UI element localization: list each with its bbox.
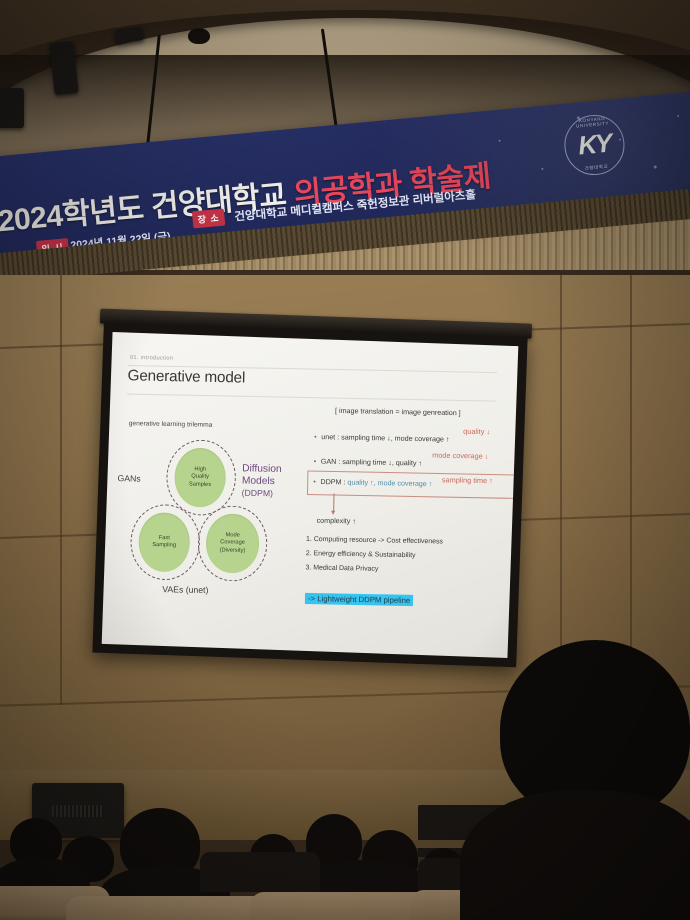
label-vaes: VAEs (unet) [162,584,208,595]
projection-screen: 01. introduction Generative model genera… [92,323,527,668]
numbered-item-3: 3. Medical Data Privacy [305,564,378,573]
speaker-icon [0,88,24,128]
slide-kicker: 01. introduction [130,355,173,362]
slide-title: Generative model [127,367,245,387]
slide-right-column: [ image translation = image genreation ]… [309,407,519,411]
annotation-mode-coverage: mode coverage ↓ [432,450,488,460]
logo-mark: KY [563,126,626,162]
trilemma-caption: generative learning trilemma [129,420,213,429]
complexity-label: complexity ↑ [317,518,356,526]
down-arrow-line [333,493,334,511]
seat-back [200,852,320,892]
slide-content: 01. introduction Generative model genera… [102,332,519,658]
seat-back [250,892,430,920]
bracket-head: [ image translation = image genreation ] [335,408,461,418]
ellipse-label: HighQualitySamples [189,466,212,488]
screen-surface: 01. introduction Generative model genera… [102,332,519,658]
foreground-shoulders [460,790,690,920]
bullet-gan: •GAN : sampling time ↓, quality ↑ [314,458,422,467]
foreground-person-silhouette [470,640,690,920]
label-gans: GANs [117,473,140,484]
down-arrow-head [331,511,335,515]
ellipse-label: ModeCoverage(Diversity) [220,532,246,554]
ellipse-label: FastSampling [152,535,176,550]
annotation-quality: quality ↓ [463,427,490,437]
numbered-item-1: 1. Computing resource -> Cost effectiven… [306,536,443,546]
label-diffusion-models: DiffusionModels(DDPM) [242,463,282,500]
annotation-sampling-time: sampling time ↑ [442,475,493,485]
trilemma-diagram: generative learning trilemma HighQuality… [119,420,296,617]
banner-place-chip: 장 소 [192,209,225,229]
numbered-item-2: 2. Energy efficiency & Sustainability [306,550,416,559]
university-logo-icon: KONYANG UNIVERSITY KY 건양대학교 [562,112,627,177]
seat-back [66,896,266,920]
conclusion-highlight: -> Lightweight DDPM pipeline [305,593,414,606]
lecture-hall-screenshot: 2024학년도 건양대학교 의공학과 학술제 일 시 2024년 11월 22일… [0,0,690,920]
bullet-unet: •unet : sampling time ↓, mode coverage ↑ [314,434,449,444]
dome-camera-icon [188,28,210,44]
